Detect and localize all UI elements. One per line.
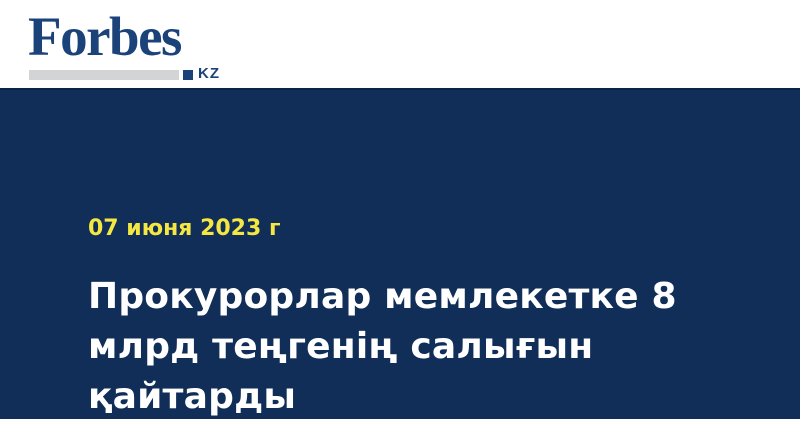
square-icon xyxy=(183,70,193,80)
site-header: Forbes KZ xyxy=(0,0,800,88)
forbes-kz-logo[interactable]: Forbes KZ xyxy=(28,8,248,80)
logo-suffix-kz: KZ xyxy=(198,66,220,82)
article-date: 07 июня 2023 г xyxy=(88,216,280,242)
logo-wordmark: Forbes xyxy=(28,8,181,66)
article-page: Forbes KZ 07 июня 2023 г Прокурорлар мем… xyxy=(0,0,800,419)
article-hero: 07 июня 2023 г Прокурорлар мемлекетке 8 … xyxy=(0,88,800,419)
bar-icon xyxy=(29,70,179,80)
page-title: Прокурорлар мемлекетке 8 млрд теңгенің с… xyxy=(88,272,728,422)
